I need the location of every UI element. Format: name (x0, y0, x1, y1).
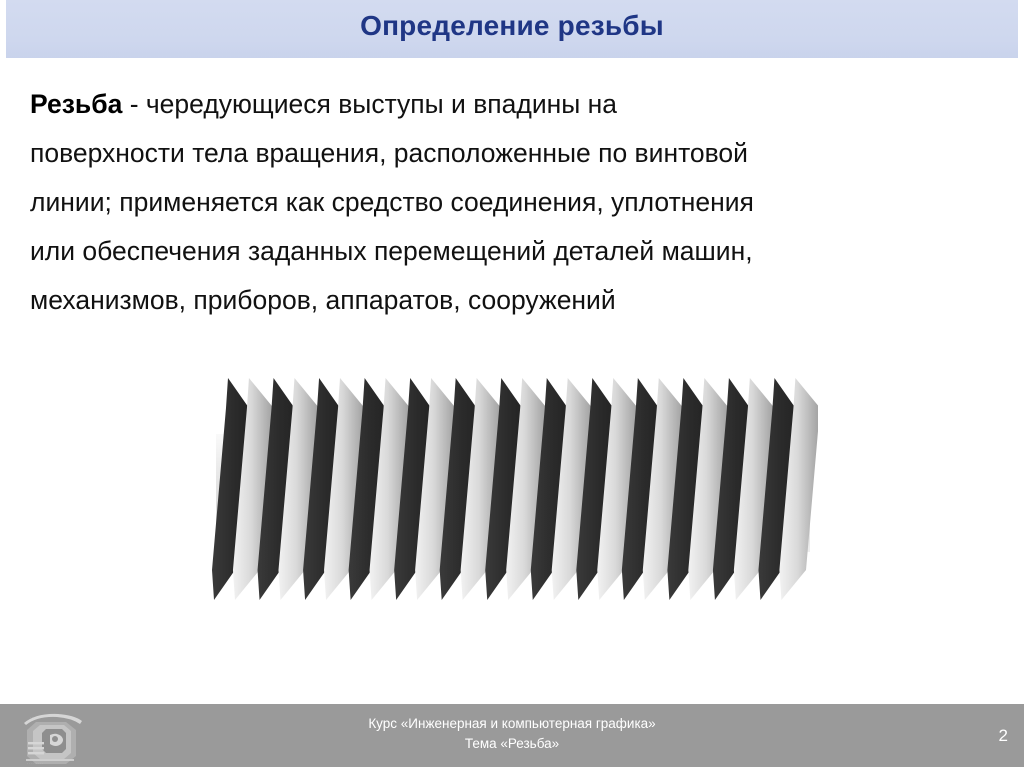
footer-caption: Курс «Инженерная и компьютерная графика»… (0, 714, 1024, 754)
slide-body-text: Резьба - чередующиеся выступы и впадины … (30, 80, 990, 325)
footer-topic-line: Тема «Резьба» (0, 734, 1024, 754)
slide-title-band: Определение резьбы (6, 0, 1018, 58)
body-line-3: линии; применяется как средство соединен… (30, 178, 990, 227)
screw-thread-illustration (208, 374, 818, 604)
body-line-1-text: - чередующиеся выступы и впадины на (122, 89, 617, 119)
slide-number: 2 (999, 726, 1008, 746)
body-line-4: или обеспечения заданных перемещений дет… (30, 227, 990, 276)
svg-text:. . . . . . . . .: . . . . . . . . . (27, 761, 43, 765)
slide-footer: . . . . . . . . . . . . . . . . Курс «Ин… (0, 704, 1024, 767)
body-line-1: Резьба - чередующиеся выступы и впадины … (30, 80, 990, 129)
page-title: Определение резьбы (6, 10, 1018, 42)
footer-course-line: Курс «Инженерная и компьютерная графика» (0, 714, 1024, 734)
body-line-5: механизмов, приборов, аппаратов, сооруже… (30, 276, 990, 325)
body-line-2: поверхности тела вращения, расположенные… (30, 129, 990, 178)
screw-thread-svg (208, 374, 818, 604)
definition-term: Резьба (30, 89, 122, 119)
